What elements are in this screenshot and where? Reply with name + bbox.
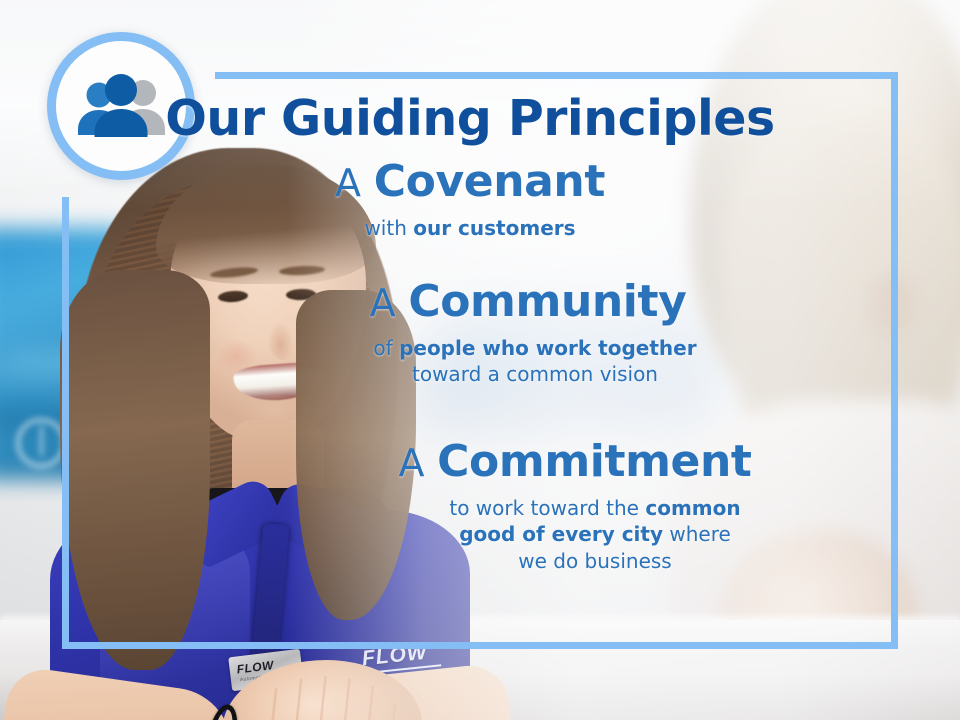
principle-article: A (370, 281, 396, 325)
principle-community: A Community of people who work togethert… (62, 280, 898, 388)
principle-keyword: Community (408, 276, 686, 327)
principle-covenant: A Covenant with our customers (62, 160, 898, 241)
text-content: Our Guiding Principles A Covenant with o… (62, 72, 898, 649)
principle-keyword: Covenant (374, 156, 605, 207)
guiding-principles-banner: FLOW Automotive FLOW (0, 0, 960, 720)
principle-subtitle-commitment: to work toward the commongood of every c… (62, 495, 898, 574)
principle-subtitle-covenant: with our customers (62, 215, 898, 241)
principle-title-covenant: A Covenant (62, 160, 898, 205)
principle-article: A (398, 441, 424, 485)
page-title: Our Guiding Principles (62, 94, 878, 143)
principle-title-commitment: A Commitment (62, 440, 898, 485)
principle-title-community: A Community (62, 280, 898, 325)
principle-article: A (335, 161, 361, 205)
principle-subtitle-community: of people who work togethertoward a comm… (62, 335, 898, 388)
principle-commitment: A Commitment to work toward the commongo… (62, 440, 898, 574)
principle-keyword: Commitment (437, 436, 751, 487)
